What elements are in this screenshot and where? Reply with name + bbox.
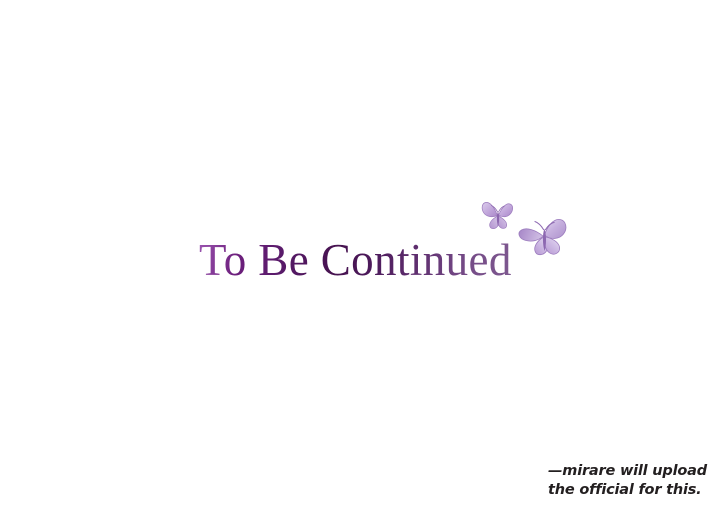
credit-note: —mirare will upload the official for thi…	[548, 462, 708, 500]
credit-note-line-1: —mirare will upload	[548, 462, 708, 481]
credit-note-line-2: the official for this.	[548, 481, 708, 500]
to-be-continued-label: To Be Continued	[199, 235, 512, 285]
butterfly-small-icon	[478, 197, 518, 233]
to-be-continued-title: To Be Continued	[199, 234, 529, 286]
page-canvas: To Be Continued —mirare will upload the …	[0, 0, 720, 528]
